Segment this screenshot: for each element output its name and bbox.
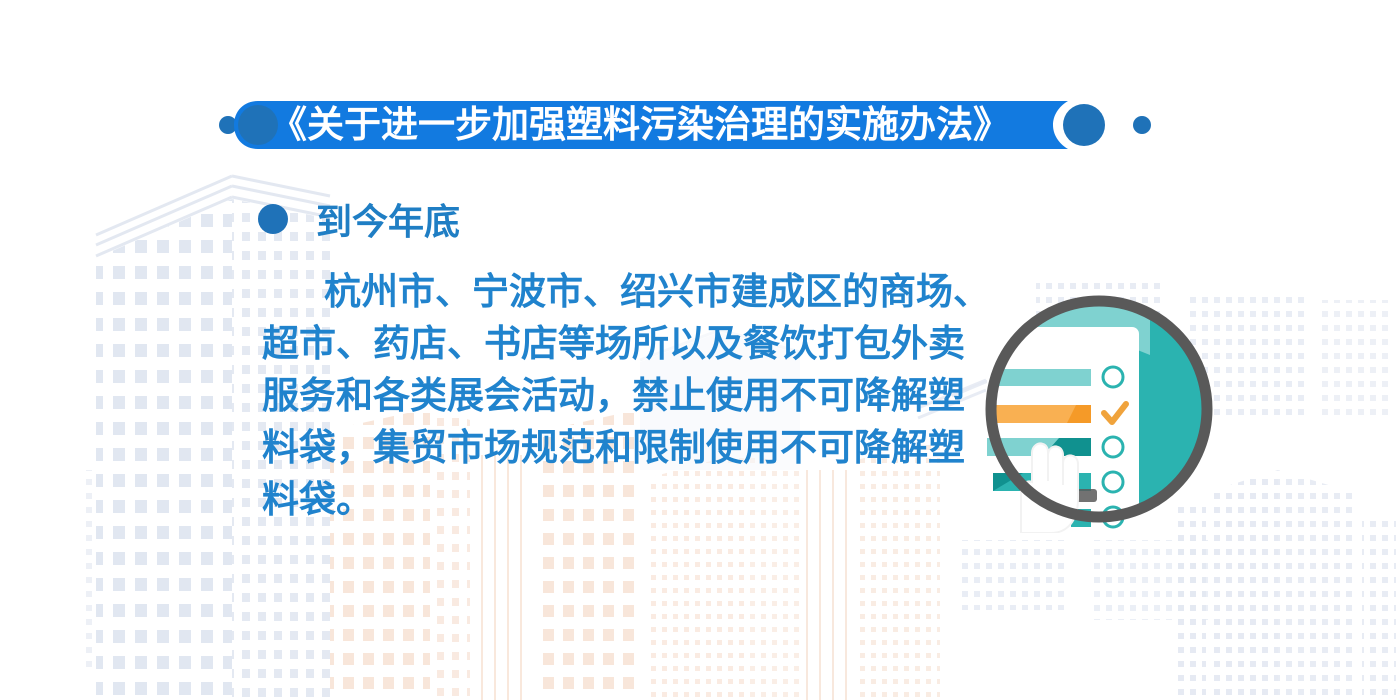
paragraph-line: 料袋。: [262, 474, 982, 526]
paragraph-line: 超市、药店、书店等场所以及餐饮打包外卖: [262, 318, 982, 370]
bullet-dot-icon: [258, 204, 288, 234]
decorative-dot-right-small: [1133, 116, 1151, 134]
city-dots-below-circle: [960, 540, 1210, 620]
body-paragraph: 杭州市、宁波市、绍兴市建成区的商场、 超市、药店、书店等场所以及餐饮打包外卖 服…: [262, 266, 982, 526]
infographic-slide: 《关于进一步加强塑料污染治理的实施办法》 到今年底 杭州市、宁波市、绍兴市建成区…: [0, 0, 1400, 700]
banner-title: 《关于进一步加强塑料污染治理的实施办法》: [270, 98, 1060, 152]
paragraph-line: 杭州市、宁波市、绍兴市建成区的商场、: [262, 266, 982, 318]
city-building-right-slab: [1176, 505, 1206, 700]
paragraph-line: 料袋，集贸市场规范和限制使用不可降解塑: [262, 422, 982, 474]
subtitle-label: 到今年底: [316, 193, 460, 245]
city-dots-left-mid: [80, 470, 96, 670]
checklist-row: [993, 369, 1091, 386]
checklist-in-circle-illustration: [975, 285, 1223, 533]
decorative-circle-right: [1063, 104, 1105, 146]
subtitle-row: 到今年底: [258, 193, 460, 245]
paragraph-line: 服务和各类展会活动，禁止使用不可降解塑: [262, 370, 982, 422]
checklist-row: [989, 405, 1091, 423]
city-building-right-tower: [1214, 470, 1352, 700]
city-building-far-right: [1362, 520, 1396, 700]
